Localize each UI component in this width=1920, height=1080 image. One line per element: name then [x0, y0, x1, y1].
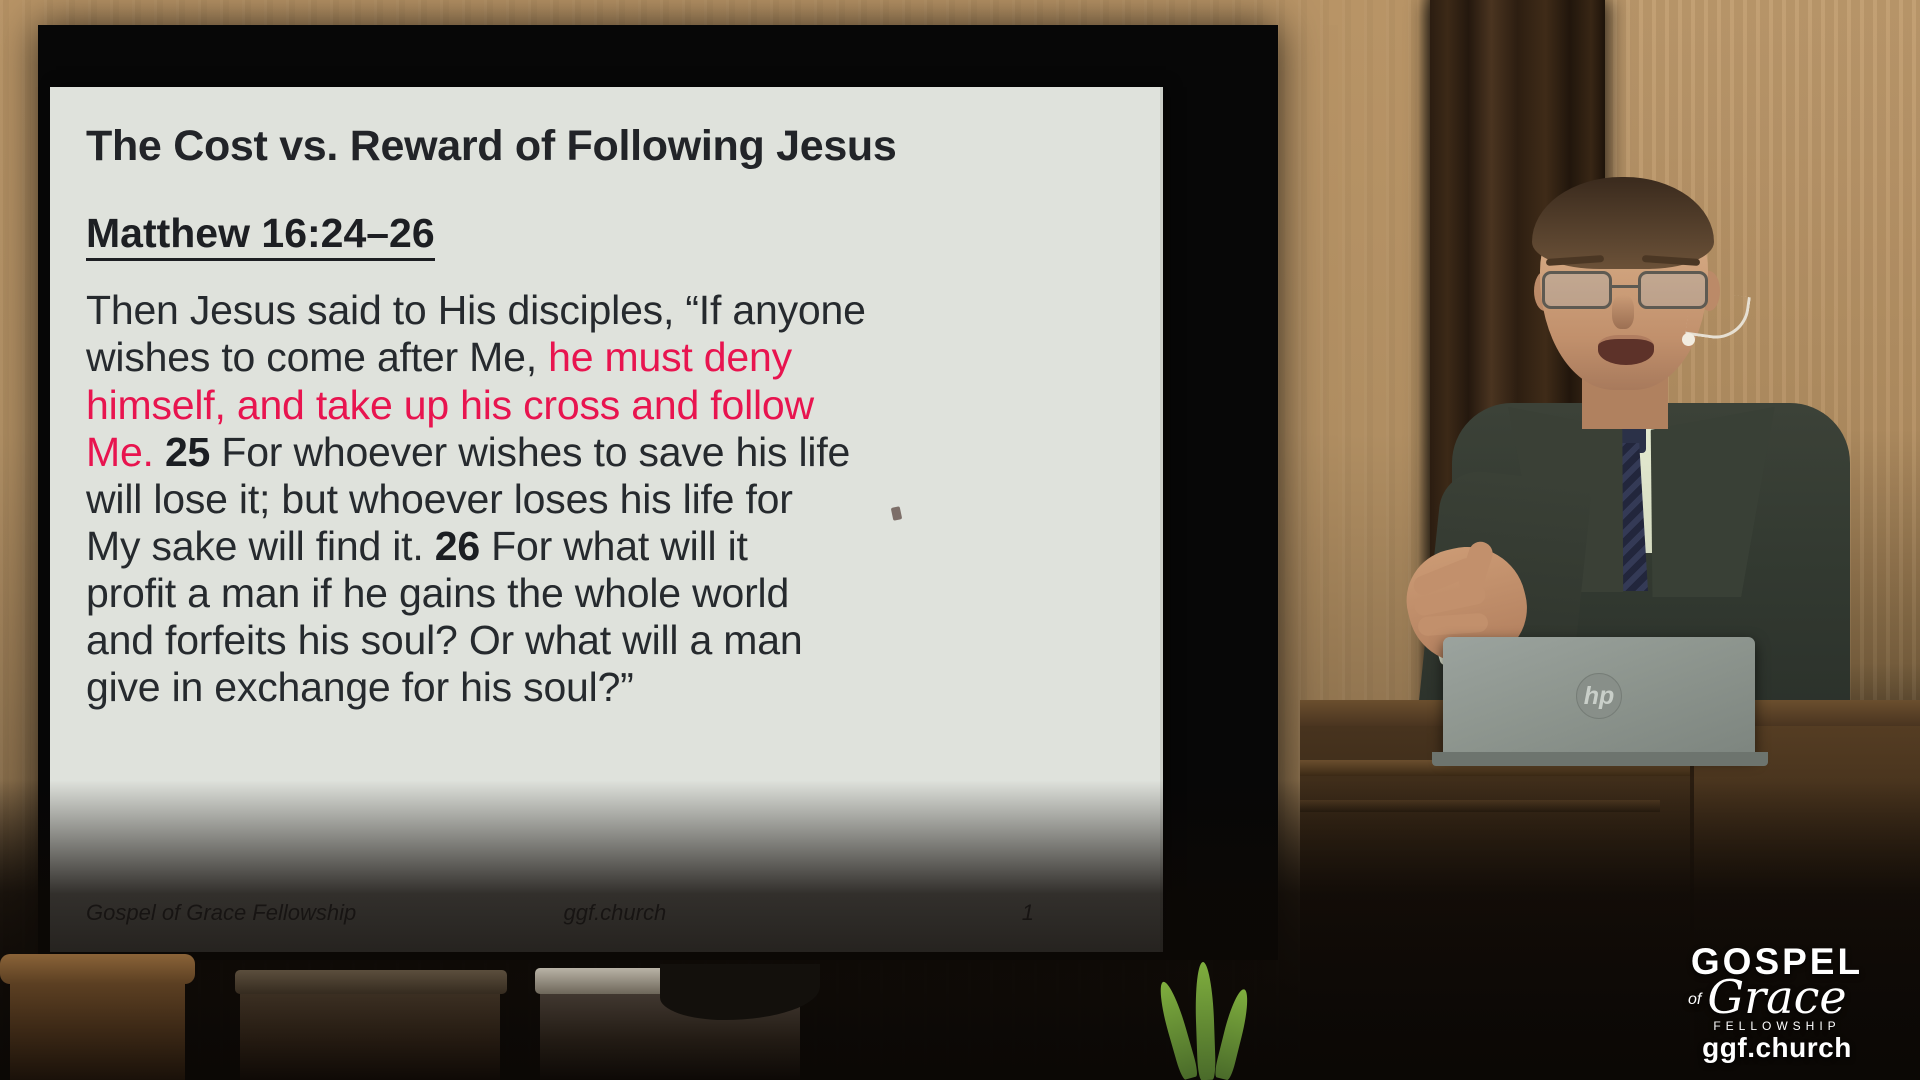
verse-line: Then Jesus said to His disciples, “If an…	[86, 287, 1124, 334]
verse-reference: Matthew 16:24–26	[86, 210, 435, 261]
watermark-script: Grace	[1672, 974, 1882, 1020]
potted-plant	[1150, 960, 1270, 1080]
verse-line: My sake will find it. 26 For what will i…	[86, 523, 1124, 570]
verse-line: and forfeits his soul? Or what will a ma…	[86, 617, 1124, 664]
chair	[240, 980, 500, 1080]
plant-leaf	[1155, 979, 1200, 1080]
plant-leaf	[1213, 987, 1253, 1080]
hp-logo-icon: hp	[1576, 673, 1622, 719]
laptop-base	[1432, 752, 1768, 766]
plant-leaf	[1194, 962, 1216, 1080]
watermark-fellowship: FELLOWSHIP	[1672, 1020, 1882, 1032]
chair-backrest	[235, 970, 507, 994]
channel-watermark-logo: GOSPEL of Grace FELLOWSHIP ggf.church	[1672, 943, 1882, 1062]
slide-title: The Cost vs. Reward of Following Jesus	[86, 123, 1124, 170]
verse-line: will lose it; but whoever loses his life…	[86, 476, 1124, 523]
verse-line: wishes to come after Me, he must deny	[86, 334, 1124, 381]
verse-line: profit a man if he gains the whole world	[86, 570, 1124, 617]
verse-line: himself, and take up his cross and follo…	[86, 382, 1124, 429]
verse-line: give in exchange for his soul?”	[86, 664, 1124, 711]
mouth	[1598, 335, 1654, 365]
stool-seat	[0, 954, 195, 984]
headset-microphone-icon	[1685, 289, 1751, 343]
nose	[1612, 295, 1634, 329]
glasses-bridge	[1612, 285, 1638, 288]
speaker-hair	[1532, 177, 1714, 269]
laptop[interactable]: hp	[1443, 637, 1755, 755]
verse-line: Me. 25 For whoever wishes to save his li…	[86, 429, 1124, 476]
sanctuary-scene: The Cost vs. Reward of Following Jesus M…	[0, 0, 1920, 1080]
lens-left	[1542, 271, 1612, 309]
microphone-tip	[1682, 333, 1695, 346]
verse-body: Then Jesus said to His disciples, “If an…	[86, 287, 1124, 711]
watermark-grace-row: of Grace FELLOWSHIP	[1672, 976, 1882, 1030]
watermark-url: ggf.church	[1672, 1034, 1882, 1062]
